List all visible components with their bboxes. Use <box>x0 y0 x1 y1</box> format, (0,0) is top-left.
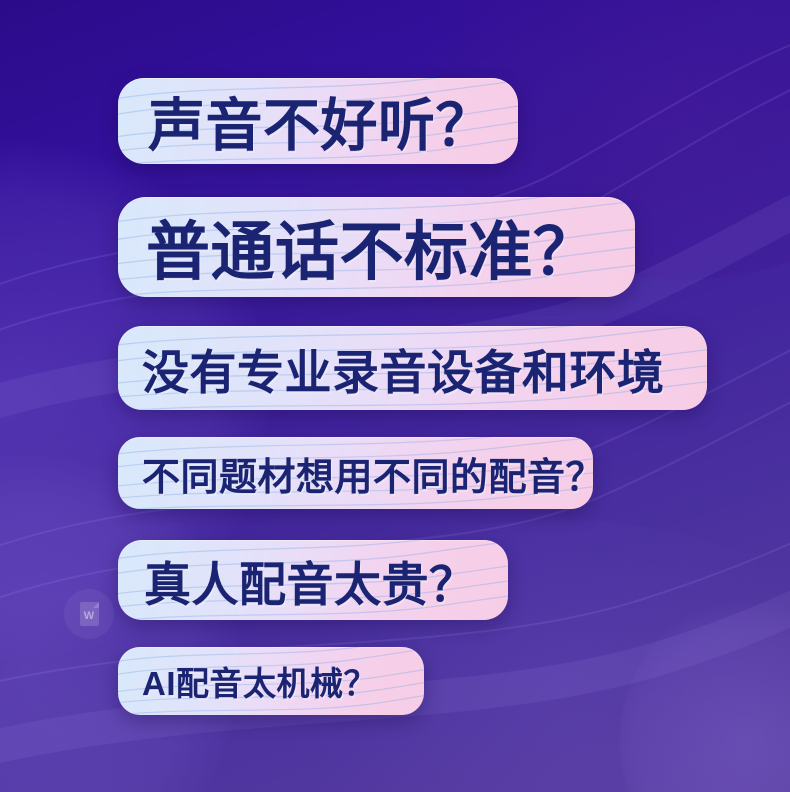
headline-pill-2: 普通话不标准？ <box>118 197 635 297</box>
headline-pill-4: 不同题材想用不同的配音？ <box>118 437 593 509</box>
headline-pill-1: 声音不好听？ <box>118 78 518 164</box>
headline-pill-6: AI配音太机械？ <box>118 647 424 715</box>
headline-text-3: 没有专业录音设备和环境 <box>118 334 665 403</box>
headline-text-2: 普通话不标准？ <box>118 201 598 293</box>
headline-text-6: AI配音太机械？ <box>118 657 377 705</box>
headline-pill-5: 真人配音太贵？ <box>118 540 508 620</box>
headline-text-4: 不同题材想用不同的配音？ <box>118 446 593 501</box>
headline-pill-stack: 声音不好听？ 普通话不标准？ <box>0 0 790 792</box>
headline-text-5: 真人配音太贵？ <box>118 546 477 615</box>
promo-poster: W 声音不好听？ <box>0 0 790 792</box>
headline-text-1: 声音不好听？ <box>118 80 493 162</box>
headline-pill-3: 没有专业录音设备和环境 <box>118 326 707 410</box>
